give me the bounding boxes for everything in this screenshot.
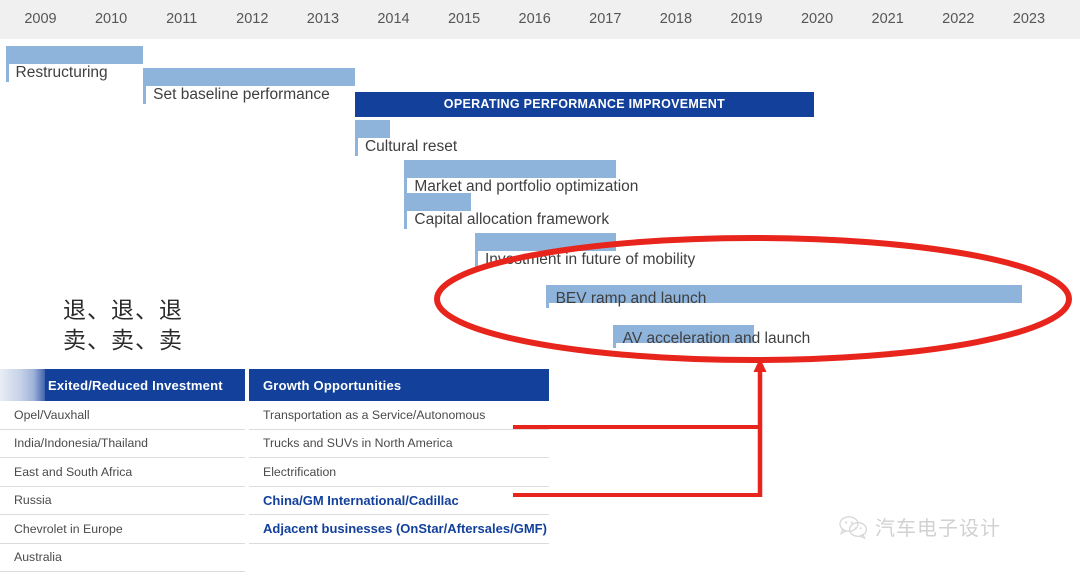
table-cell: Australia: [14, 550, 62, 564]
year-tick: 2010: [76, 0, 146, 39]
table-row: Trucks and SUVs in North America: [249, 430, 549, 459]
table-row: Electrification: [249, 458, 549, 487]
exited-reduced-investment-header: Exited/Reduced Investment: [0, 369, 245, 401]
table-cell: Electrification: [263, 465, 336, 479]
year-tick: 2019: [712, 0, 782, 39]
year-tick: 2023: [994, 0, 1064, 39]
year-tick: 2011: [147, 0, 217, 39]
gantt-bar-label: Cultural reset: [355, 137, 457, 156]
gantt-bar: [475, 233, 616, 251]
table-cell: India/Indonesia/Thailand: [14, 436, 148, 450]
gantt-bar-label: Investment in future of mobility: [475, 250, 695, 269]
wechat-icon: [838, 515, 868, 539]
year-tick: 2018: [641, 0, 711, 39]
gantt-bar: [404, 193, 471, 211]
slide-canvas: 2009201020112012201320142015201620172018…: [0, 0, 1080, 573]
exited-reduced-investment-table: Exited/Reduced Investment Opel/VauxhallI…: [0, 369, 245, 572]
gantt-bar: [6, 46, 144, 64]
gantt-bar-label: BEV ramp and launch: [546, 289, 707, 308]
year-tick: 2015: [429, 0, 499, 39]
gantt-bar: [355, 120, 390, 138]
table-row: Adjacent businesses (OnStar/Aftersales/G…: [249, 515, 549, 544]
table-row: Chevrolet in Europe: [0, 515, 245, 544]
year-tick: 2014: [359, 0, 429, 39]
table-cell: Chevrolet in Europe: [14, 522, 123, 536]
table-row: Russia: [0, 487, 245, 516]
year-tick: 2021: [853, 0, 923, 39]
operating-performance-banner-label: OPERATING PERFORMANCE IMPROVEMENT: [355, 97, 814, 111]
table-cell: Opel/Vauxhall: [14, 408, 90, 422]
exited-reduced-investment-title: Exited/Reduced Investment: [48, 378, 223, 393]
year-tick: 2022: [923, 0, 993, 39]
year-tick: 2020: [782, 0, 852, 39]
table-cell: Adjacent businesses (OnStar/Aftersales/G…: [263, 521, 547, 536]
year-tick: 2013: [288, 0, 358, 39]
table-row: Australia: [0, 544, 245, 573]
watermark-text: 汽车电子设计: [875, 512, 1001, 541]
exited-reduced-investment-rows: Opel/VauxhallIndia/Indonesia/ThailandEas…: [0, 401, 245, 572]
gantt-bar-label: Restructuring: [6, 63, 108, 82]
table-row: East and South Africa: [0, 458, 245, 487]
gantt-bar: [143, 68, 355, 86]
gantt-bar-label: Set baseline performance: [143, 85, 330, 104]
table-cell: China/GM International/Cadillac: [263, 493, 459, 508]
gantt-bar-label: Capital allocation framework: [404, 210, 609, 229]
table-cell: Trucks and SUVs in North America: [263, 436, 453, 450]
header-gradient-strip: [0, 369, 45, 401]
growth-opportunities-rows: Transportation as a Service/AutonomousTr…: [249, 401, 549, 544]
table-cell: East and South Africa: [14, 465, 132, 479]
table-row: Opel/Vauxhall: [0, 401, 245, 430]
year-ruler: 2009201020112012201320142015201620172018…: [0, 0, 1080, 40]
year-tick: 2012: [217, 0, 287, 39]
year-tick: 2017: [570, 0, 640, 39]
table-cell: Russia: [14, 493, 52, 507]
gantt-bar-label: AV acceleration and launch: [613, 329, 811, 348]
year-tick: 2009: [6, 0, 76, 39]
table-row: China/GM International/Cadillac: [249, 487, 549, 516]
watermark: 汽车电子设计: [838, 512, 1001, 541]
growth-opportunities-header: Growth Opportunities: [249, 369, 549, 401]
gantt-bar: [404, 160, 616, 178]
table-cell: Transportation as a Service/Autonomous: [263, 408, 485, 422]
growth-opportunities-table: Growth Opportunities Transportation as a…: [249, 369, 549, 544]
year-tick: 2016: [500, 0, 570, 39]
chinese-annotation: 退、退、退 卖、卖、卖: [63, 296, 183, 356]
table-row: India/Indonesia/Thailand: [0, 430, 245, 459]
growth-opportunities-title: Growth Opportunities: [263, 378, 401, 393]
table-row: Transportation as a Service/Autonomous: [249, 401, 549, 430]
